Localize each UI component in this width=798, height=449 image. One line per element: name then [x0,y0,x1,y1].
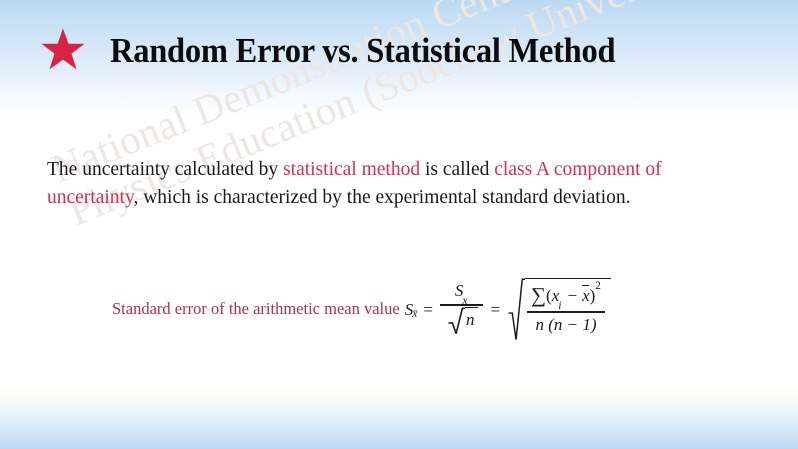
highlight-statistical-method: statistical method [283,159,420,180]
sum-variable-subscript: i [558,299,561,312]
body-segment-1: The uncertainty calculated by [47,159,283,180]
sqrt-n-value: n [466,310,475,330]
formula-equals-2: = [490,300,500,320]
summation-symbol: ∑ [531,283,546,307]
radical-sign-icon [448,307,465,335]
title-row: Random Error vs. Statistical Method [40,27,653,73]
sqrt-n-radical: n [448,307,479,335]
formula-caption: Standard error of the arithmetic mean va… [112,299,400,320]
fraction-denominator: n [440,306,484,340]
denominator-n-n-minus-1: n (n − 1) [531,314,600,336]
minus-operator: − [567,286,577,305]
fraction-numerator: Sx [450,280,474,305]
formula-lhs-subscript: x̄ [412,307,417,320]
body-segment-3: , which is characterized by the experime… [133,187,630,208]
numerator-subscript: x [462,294,467,307]
page-title: Random Error vs. Statistical Method [110,33,615,68]
fraction-sx-over-sqrt-n: Sx n [440,280,484,340]
body-paragraph: The uncertainty calculated by statistica… [47,156,747,211]
mean-x-bar: x [582,286,590,306]
exponent-two: 2 [595,280,601,292]
formula-expression: Sx̄ = Sx n = [405,278,611,342]
star-icon [40,27,86,73]
body-segment-2: is called [420,159,494,180]
slide-canvas: National Demonstration Center for Experi… [0,0,798,449]
formula-row: Standard error of the arithmetic mean va… [112,278,611,342]
sum-expression: ∑(xi−x)2 [527,281,605,310]
big-fraction-bar [527,311,605,312]
radical-contents: ∑(xi−x)2 n (n − 1) [525,278,611,342]
big-radical: ∑(xi−x)2 n (n − 1) [508,278,611,342]
bottom-gradient-band [0,387,798,449]
formula-equals-1: = [423,300,433,320]
radical-sign-icon-large [508,278,525,342]
